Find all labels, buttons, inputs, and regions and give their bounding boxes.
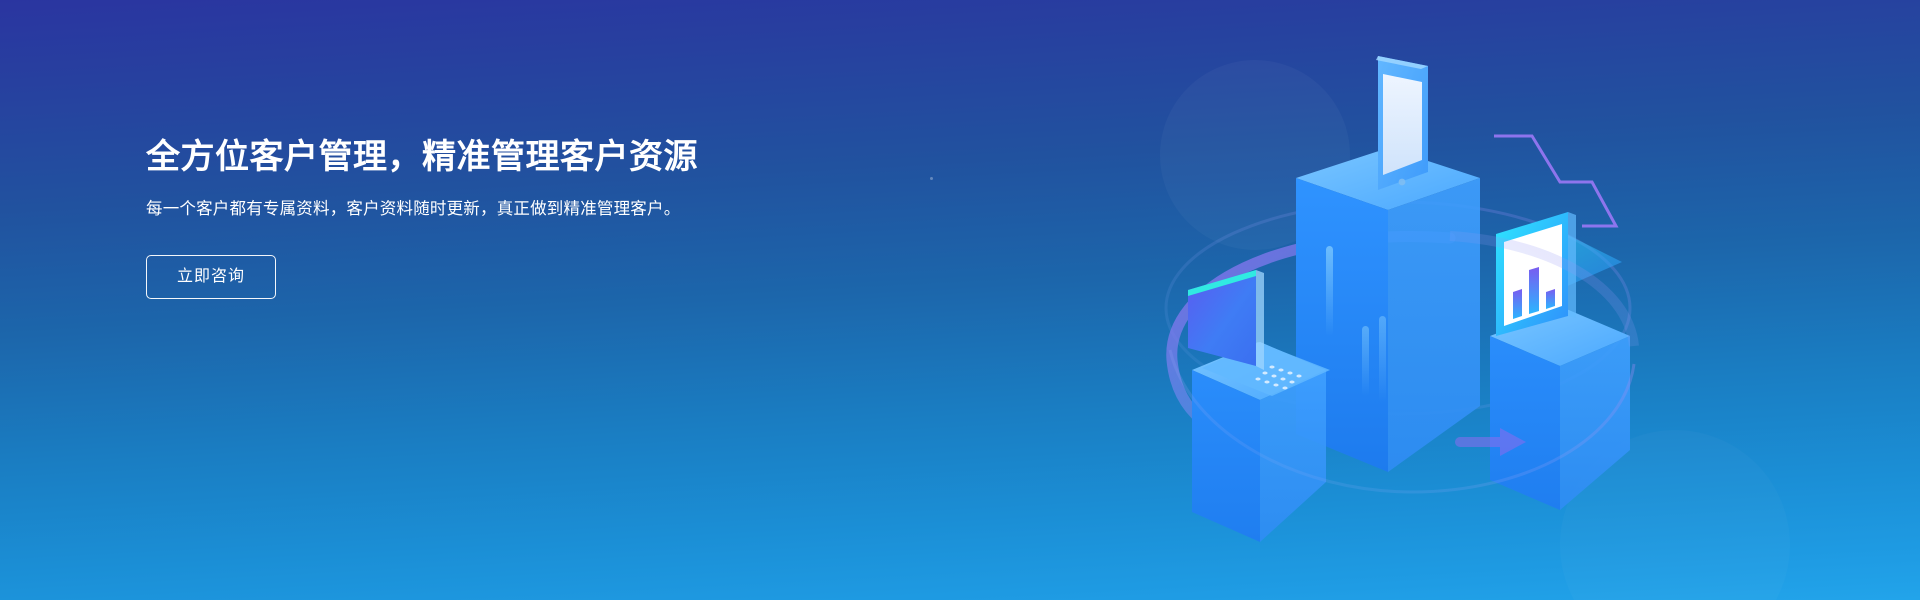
consult-now-button[interactable]: 立即咨询	[146, 255, 276, 299]
hero-illustration	[1130, 30, 1670, 570]
page-title: 全方位客户管理，精准管理客户资源	[146, 138, 766, 177]
hero-banner: 全方位客户管理，精准管理客户资源 每一个客户都有专属资料，客户资料随时更新，真正…	[0, 0, 1920, 600]
decorative-dot	[930, 177, 933, 180]
right-pedestal	[1490, 308, 1630, 510]
tablet-device	[1376, 56, 1428, 190]
trend-line	[1494, 136, 1616, 226]
hero-subtitle: 每一个客户都有专属资料，客户资料随时更新，真正做到精准管理客户。	[146, 197, 736, 223]
hero-copy: 全方位客户管理，精准管理客户资源 每一个客户都有专属资料，客户资料随时更新，真正…	[146, 138, 766, 299]
monitor-device	[1496, 212, 1622, 336]
